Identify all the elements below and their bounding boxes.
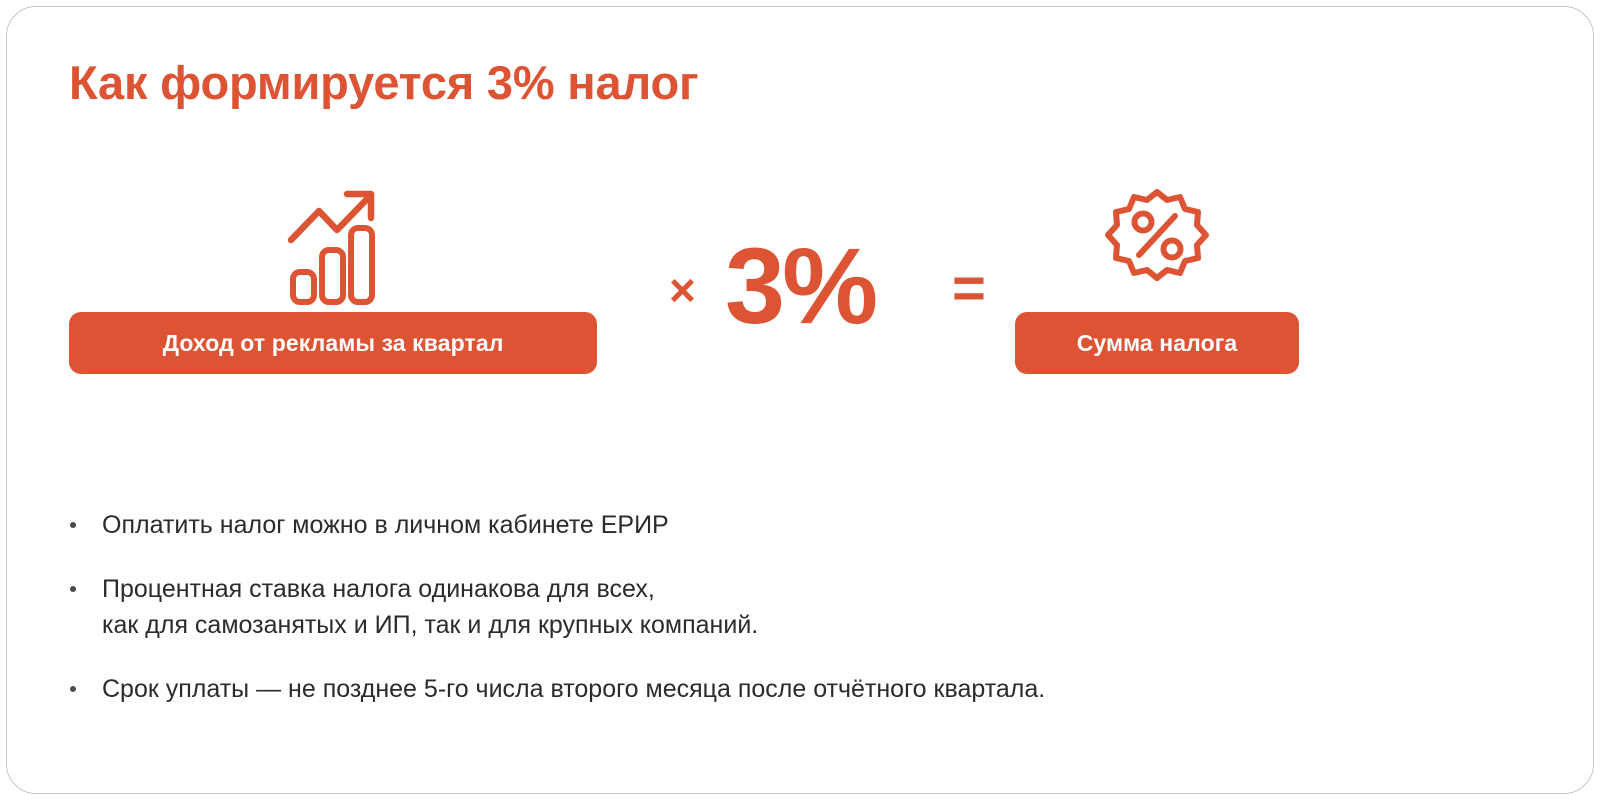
income-block: Доход от рекламы за квартал: [69, 172, 597, 374]
equals-sign: =: [952, 260, 986, 318]
tax-rate-value: 3%: [725, 232, 875, 340]
list-item: Оплатить налог можно в личном кабинете Е…: [64, 507, 1464, 543]
note-line: Процентная ставка налога одинакова для в…: [102, 571, 1464, 607]
list-item: Срок уплаты — не позднее 5-го числа втор…: [64, 671, 1464, 707]
infographic-card: Как формируется 3% налог Доход от реклам…: [6, 6, 1594, 794]
formula-row: Доход от рекламы за квартал × 3% = Сумма…: [7, 172, 1595, 402]
bullet-dot: [70, 686, 76, 692]
income-label-pill[interactable]: Доход от рекламы за квартал: [69, 312, 597, 374]
tax-block: Сумма налога: [1015, 172, 1299, 374]
percent-badge-icon: [1015, 172, 1299, 312]
list-item: Процентная ставка налога одинакова для в…: [64, 571, 1464, 643]
note-line: Оплатить налог можно в личном кабинете Е…: [102, 507, 1464, 543]
bullet-dot: [70, 522, 76, 528]
tax-label-pill[interactable]: Сумма налога: [1015, 312, 1299, 374]
page-title: Как формируется 3% налог: [69, 55, 698, 110]
multiply-sign: ×: [669, 267, 696, 313]
bullet-dot: [70, 586, 76, 592]
note-line: Срок уплаты — не позднее 5-го числа втор…: [102, 671, 1464, 707]
notes-list: Оплатить налог можно в личном кабинете Е…: [64, 507, 1464, 707]
note-line: как для самозанятых и ИП, так и для круп…: [102, 607, 1464, 643]
bar-chart-growth-icon: [69, 172, 597, 312]
